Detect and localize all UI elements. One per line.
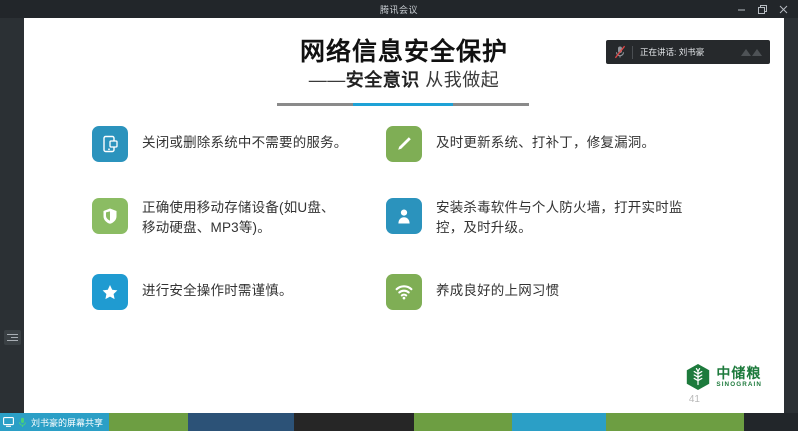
taskbar-segment-2[interactable] (188, 413, 294, 431)
taskbar-segment-3[interactable] (294, 413, 414, 431)
rule-segment-blue (353, 103, 453, 106)
mic-muted-icon (614, 45, 626, 59)
badge-divider (632, 46, 633, 59)
right-rail (784, 18, 798, 413)
wifi-icon (386, 274, 422, 310)
bullet-item-habits: 养成良好的上网习惯 (386, 274, 706, 310)
window-controls (731, 0, 794, 18)
bullet-item-storage: 正确使用移动存储设备(如U盘、 移动硬盘、MP3等)。 (92, 198, 392, 238)
bullet-item-caution: 进行安全操作时需谨慎。 (92, 274, 392, 310)
bullet-text: 安装杀毒软件与个人防火墙，打开实时监 控，及时升级。 (436, 198, 683, 238)
screen-share-icon (3, 417, 14, 427)
title-divider-rule (277, 103, 529, 106)
list-menu-glyph (7, 332, 18, 343)
mobile-device-icon (92, 126, 128, 162)
left-toolbar-rail (0, 18, 24, 413)
microphone-icon (18, 417, 27, 428)
active-speaker-badge: 正在讲话: 刘书豪 (606, 40, 770, 64)
audio-wave-icon (741, 49, 762, 56)
bullet-item-antivirus: 安装杀毒软件与个人防火墙，打开实时监 控，及时升级。 (386, 198, 706, 238)
bullet-text: 及时更新系统、打补丁，修复漏洞。 (436, 126, 655, 153)
screen-share-indicator[interactable]: 刘书豪的屏幕共享 (0, 413, 109, 431)
minimize-button[interactable] (731, 0, 752, 18)
bullet-list: 关闭或删除系统中不需要的服务。 及时更新系统、打补丁，修复漏洞。 (24, 126, 784, 351)
bullet-item-patch: 及时更新系统、打补丁，修复漏洞。 (386, 126, 706, 162)
slide-page-number: 41 (689, 394, 700, 405)
taskbar-segment-4[interactable] (414, 413, 512, 431)
close-button[interactable] (773, 0, 794, 18)
rule-segment-gray-left (277, 103, 353, 106)
logo-text: 中储粮 SINOGRAIN (716, 366, 762, 388)
star-icon (92, 274, 128, 310)
logo-name-cn: 中储粮 (716, 366, 762, 380)
restore-button[interactable] (752, 0, 773, 18)
sinograin-wheat-hexagon-icon (685, 363, 711, 391)
shield-icon (92, 198, 128, 234)
slide-subtitle: ——安全意识 从我做起 (24, 66, 784, 92)
title-bar: 腾讯会议 (0, 0, 798, 18)
rule-segment-gray-right (453, 103, 529, 106)
user-person-icon (386, 198, 422, 234)
app-title: 腾讯会议 (380, 3, 418, 16)
bottom-taskbar-strip (0, 413, 798, 431)
logo-name-en: SINOGRAIN (716, 382, 762, 388)
shared-slide: 网络信息安全保护 ——安全意识 从我做起 正在讲话: 刘书豪 (24, 18, 784, 413)
bullet-text: 关闭或删除系统中不需要的服务。 (142, 126, 348, 153)
meeting-window: 腾讯会议 (0, 0, 798, 431)
list-menu-icon[interactable] (4, 330, 21, 345)
taskbar-segment-5[interactable] (512, 413, 606, 431)
taskbar-segment-7[interactable] (744, 413, 798, 431)
subtitle-tail: 从我做起 (420, 70, 500, 90)
sinograin-logo: 中储粮 SINOGRAIN (685, 363, 762, 391)
subtitle-main: 安全意识 (346, 70, 420, 90)
bullet-text: 正确使用移动存储设备(如U盘、 移动硬盘、MP3等)。 (142, 198, 335, 238)
taskbar-segment-1[interactable] (96, 413, 188, 431)
pencil-edit-icon (386, 126, 422, 162)
bullet-text: 进行安全操作时需谨慎。 (142, 274, 293, 301)
bullet-item-services: 关闭或删除系统中不需要的服务。 (92, 126, 392, 162)
subtitle-dash: —— (309, 70, 346, 90)
taskbar-segment-6[interactable] (606, 413, 744, 431)
screen-share-label: 刘书豪的屏幕共享 (31, 416, 103, 429)
bullet-text: 养成良好的上网习惯 (436, 274, 559, 301)
active-speaker-label: 正在讲话: 刘书豪 (640, 46, 704, 58)
